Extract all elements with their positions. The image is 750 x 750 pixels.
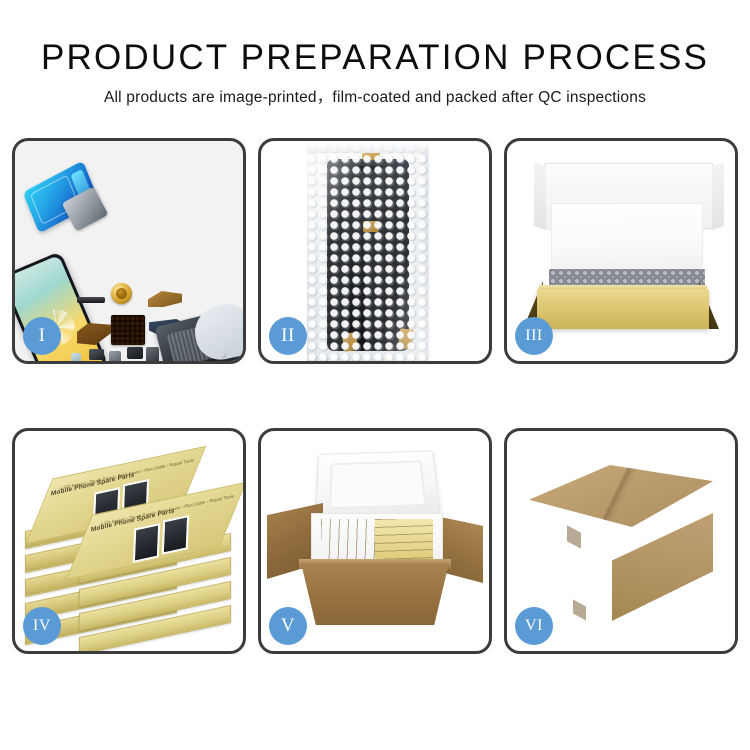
ic-chip-array-icon bbox=[111, 315, 145, 345]
screw-icon bbox=[221, 353, 226, 358]
gold-coil-part-icon bbox=[111, 283, 132, 304]
chip-part-icon bbox=[109, 351, 121, 361]
kraft-box-front bbox=[537, 289, 709, 329]
step-panel-5[interactable]: V bbox=[258, 428, 492, 654]
step-panel-3[interactable]: III bbox=[504, 138, 738, 364]
flex-cable-tan-icon bbox=[148, 291, 182, 307]
white-foam-sheet bbox=[551, 203, 703, 273]
step-badge-5: V bbox=[269, 607, 307, 645]
chip-part-icon bbox=[89, 349, 104, 360]
step-badge-3: III bbox=[515, 317, 553, 355]
carton-top-seam bbox=[529, 465, 713, 527]
carton-right-face bbox=[612, 513, 713, 621]
speaker-bar-part-icon bbox=[77, 297, 105, 303]
page-header: PRODUCT PREPARATION PROCESS All products… bbox=[0, 0, 750, 108]
process-step-grid: I II III bbox=[12, 138, 738, 654]
step-badge-6: VI bbox=[515, 607, 553, 645]
foam-box-lid bbox=[315, 450, 441, 521]
box-product-thumbnail bbox=[133, 523, 160, 563]
chip-part-icon bbox=[71, 353, 81, 361]
step-badge-1: I bbox=[23, 317, 61, 355]
step-badge-2: II bbox=[269, 317, 307, 355]
packed-yellow-boxes bbox=[321, 519, 433, 563]
plastic-sheen-overlay bbox=[307, 143, 429, 361]
bag-seal-seam bbox=[307, 143, 429, 153]
bubble-wrap-bag bbox=[307, 143, 429, 361]
step-panel-2[interactable]: II bbox=[258, 138, 492, 364]
step-panel-6[interactable]: VI bbox=[504, 428, 738, 654]
carton-front-face bbox=[301, 563, 449, 625]
chip-part-icon bbox=[146, 347, 159, 361]
step-badge-4: IV bbox=[23, 607, 61, 645]
step-panel-4[interactable]: Mobile Phone Spare Parts ▫ LCD Screen ▫ … bbox=[12, 428, 246, 654]
step-panel-1[interactable]: I bbox=[12, 138, 246, 364]
box-product-thumbnail bbox=[162, 515, 189, 555]
chip-part-icon bbox=[127, 347, 143, 359]
page-title: PRODUCT PREPARATION PROCESS bbox=[0, 38, 750, 78]
page-subtitle: All products are image-printed，film-coat… bbox=[0, 88, 750, 108]
